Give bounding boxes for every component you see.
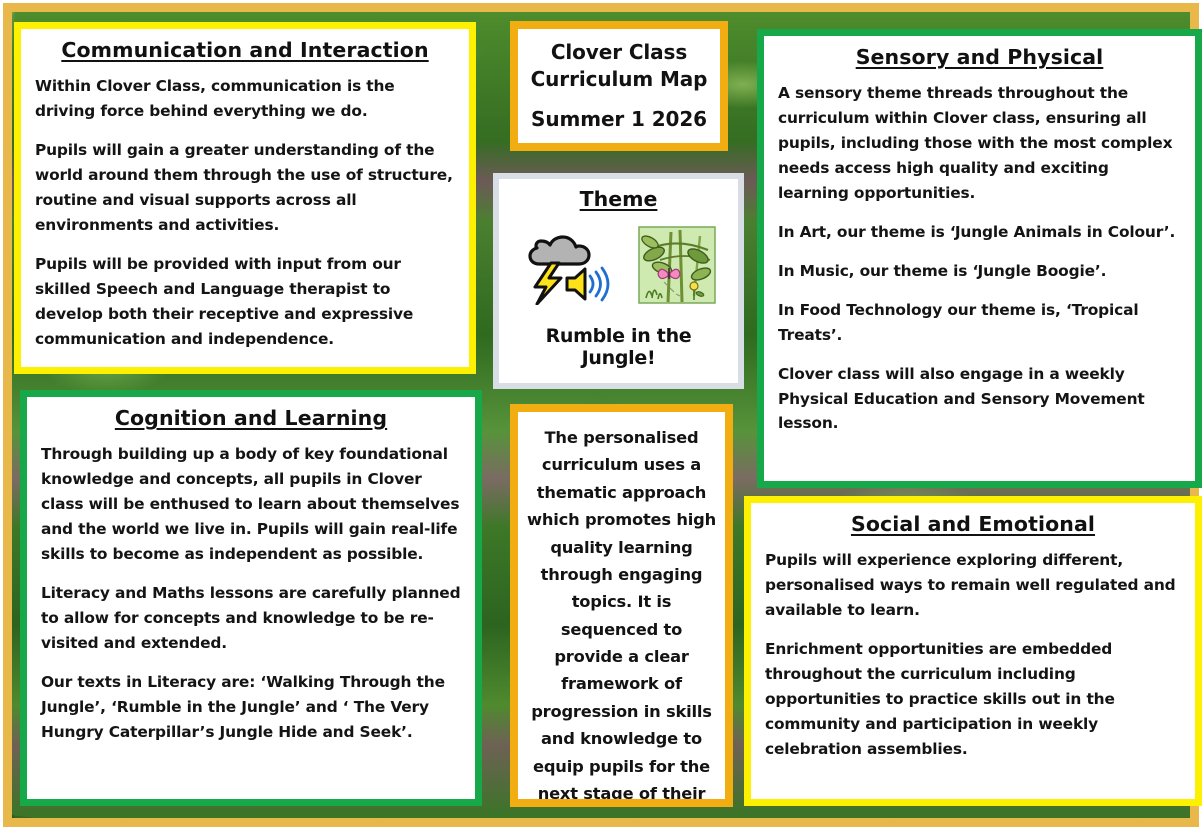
- panel-title-communication: Communication and Interaction: [35, 38, 455, 62]
- theme-heading: Theme: [580, 187, 658, 211]
- title-card-line-3: Summer 1 2026: [531, 106, 707, 133]
- panel-title-cognition: Cognition and Learning: [41, 406, 461, 430]
- communication-paragraph-3: Pupils will be provided with input from …: [35, 252, 455, 352]
- panel-title-social: Social and Emotional: [765, 512, 1181, 536]
- panel-central-statement: The personalised curriculum uses a thema…: [510, 404, 733, 807]
- panel-cognition-and-learning: Cognition and Learning Through building …: [20, 390, 482, 806]
- sensory-paragraph-2: In Art, our theme is ‘Jungle Animals in …: [778, 220, 1181, 245]
- title-card-line-1: Clover Class: [551, 39, 687, 66]
- sensory-paragraph-5: Clover class will also engage in a weekl…: [778, 362, 1181, 437]
- sensory-paragraph-1: A sensory theme threads throughout the c…: [778, 81, 1181, 206]
- panel-title-sensory: Sensory and Physical: [778, 45, 1181, 69]
- poster-page: Communication and Interaction Within Clo…: [0, 0, 1202, 830]
- communication-paragraph-2: Pupils will gain a greater understanding…: [35, 138, 455, 238]
- central-statement-text: The personalised curriculum uses a thema…: [526, 424, 717, 799]
- theme-icon-row: [509, 225, 728, 305]
- sensory-paragraph-4: In Food Technology our theme is, ‘Tropic…: [778, 298, 1181, 348]
- communication-paragraph-1: Within Clover Class, communication is th…: [35, 74, 455, 124]
- cognition-paragraph-1: Through building up a body of key founda…: [41, 442, 461, 567]
- theme-caption: Rumble in the Jungle!: [509, 325, 728, 369]
- cognition-paragraph-2: Literacy and Maths lessons are carefully…: [41, 581, 461, 656]
- panel-communication-and-interaction: Communication and Interaction Within Clo…: [14, 22, 476, 374]
- social-paragraph-2: Enrichment opportunities are embedded th…: [765, 637, 1181, 762]
- cognition-paragraph-3: Our texts in Literacy are: ‘Walking Thro…: [41, 670, 461, 745]
- sensory-paragraph-3: In Music, our theme is ‘Jungle Boogie’.: [778, 259, 1181, 284]
- jungle-foliage-icon: [638, 226, 716, 304]
- panel-sensory-and-physical: Sensory and Physical A sensory theme thr…: [757, 29, 1202, 488]
- theme-card: Theme: [493, 173, 744, 389]
- thunder-cloud-sound-icon: [521, 225, 617, 305]
- title-card: Clover Class Curriculum Map Summer 1 202…: [510, 21, 728, 151]
- title-card-line-2: Curriculum Map: [531, 66, 708, 93]
- panel-social-and-emotional: Social and Emotional Pupils will experie…: [744, 496, 1202, 806]
- social-paragraph-1: Pupils will experience exploring differe…: [765, 548, 1181, 623]
- poster-content: Communication and Interaction Within Clo…: [12, 12, 1190, 818]
